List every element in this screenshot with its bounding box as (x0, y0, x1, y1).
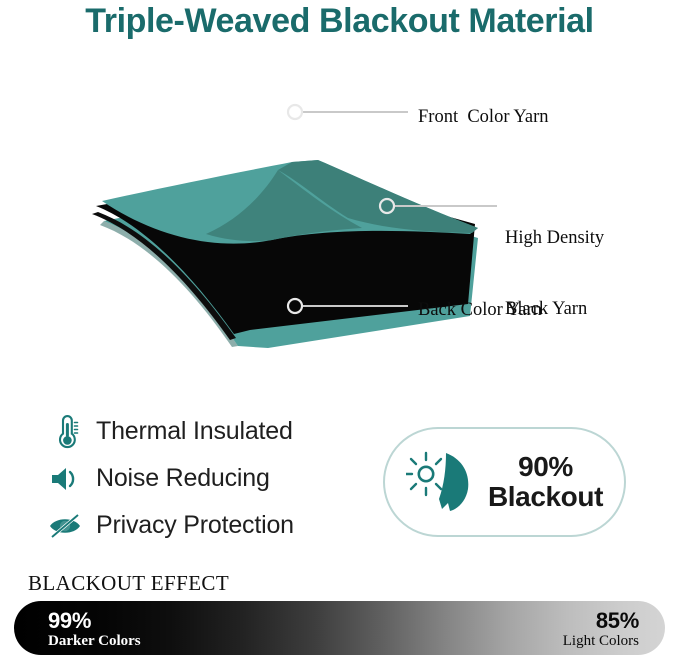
gradient-right-group: 85% Light Colors (563, 609, 639, 650)
gradient-right-caption: Light Colors (563, 632, 639, 650)
eye-slash-icon (46, 508, 86, 544)
callout-label-back: Back Color Yarn (418, 299, 542, 323)
feature-item-privacy: Privacy Protection (46, 502, 376, 549)
gradient-left-group: 99% Darker Colors (48, 609, 141, 650)
feature-item-noise: Noise Reducing (46, 455, 376, 502)
feature-label-privacy: Privacy Protection (96, 511, 294, 540)
blackout-percent: 90% (488, 452, 603, 482)
speaker-icon (46, 461, 86, 497)
sun-behind-curtain-icon (406, 449, 482, 515)
feature-list: Thermal Insulated Noise Reducing Privacy… (46, 408, 376, 549)
callout-label-front: Front Color Yarn (418, 106, 549, 130)
thermometer-icon (46, 414, 86, 450)
feature-label-noise: Noise Reducing (96, 464, 270, 493)
gradient-left-percent: 99% (48, 609, 141, 632)
feature-label-thermal: Thermal Insulated (96, 417, 293, 446)
blackout-caption: Blackout (488, 482, 603, 512)
callout-leader-front (288, 105, 408, 119)
callout-label-middle-line1: High Density (505, 227, 604, 251)
page-title: Triple-Weaved Blackout Material (0, 2, 679, 41)
blackout-badge: 90% Blackout (383, 427, 626, 537)
feature-item-thermal: Thermal Insulated (46, 408, 376, 455)
gradient-left-caption: Darker Colors (48, 632, 141, 650)
blackout-gradient-bar: 99% Darker Colors 85% Light Colors (14, 601, 665, 655)
gradient-right-percent: 85% (563, 609, 639, 632)
blackout-effect-heading: BLACKOUT EFFECT (28, 571, 229, 596)
blackout-badge-text: 90% Blackout (488, 452, 603, 512)
